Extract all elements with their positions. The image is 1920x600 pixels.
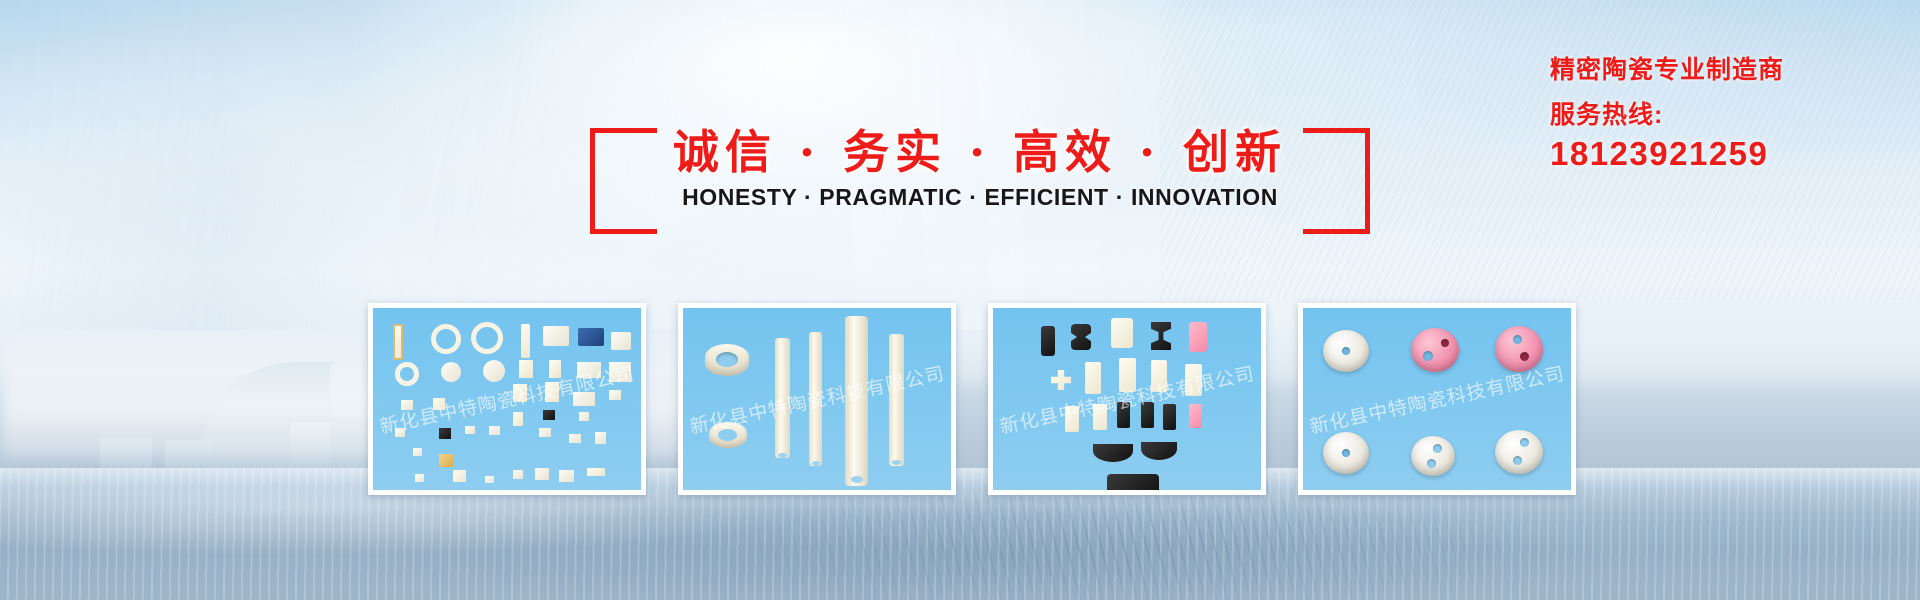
disc-upper-hole [1520, 438, 1529, 447]
ceramic-block-white [1151, 360, 1167, 392]
product-panel-ceramic-discs-and-nozzles[interactable]: 新化县中特陶瓷科技有限公司 [1298, 303, 1576, 495]
ceramic-block-pink [1189, 404, 1202, 428]
nozzle-bore [1513, 335, 1522, 344]
ceramic-tube-thick-bore [851, 476, 863, 483]
panel-image: 新化县中特陶瓷科技有限公司 [683, 308, 951, 490]
ceramic-tube [775, 338, 790, 458]
chip-substrate [611, 332, 631, 350]
chip-part [545, 382, 559, 402]
ceramic-tube-bore [778, 453, 787, 458]
disc-lower-hole [1427, 459, 1436, 468]
panel-image: 新化县中特陶瓷科技有限公司 [993, 308, 1261, 490]
ceramic-tube-bore [892, 460, 901, 465]
chip-part [415, 474, 424, 482]
chip-substrate [577, 362, 601, 378]
ceramic-nozzle-pink [1495, 326, 1543, 372]
chip-part [485, 476, 494, 483]
ceramic-bobbin-white [1111, 318, 1133, 348]
ceramic-block-pink [1189, 322, 1207, 352]
chip-part [535, 468, 549, 480]
chip-ring [395, 362, 419, 386]
chip-part [543, 410, 555, 420]
hotline-label: 服务热线: [1550, 100, 1880, 130]
chip-ring [431, 324, 461, 354]
ceramic-disc-pink [1411, 328, 1459, 372]
chip-part [539, 428, 551, 437]
product-panel-ceramic-tubes-and-rings[interactable]: 新化县中特陶瓷科技有限公司 [678, 303, 956, 495]
disc-center-hole [1423, 351, 1433, 361]
chip-part [519, 360, 533, 378]
chip-part [465, 426, 475, 434]
chip-part [453, 470, 466, 482]
ceramic-h-block [1151, 322, 1171, 350]
chip-part [569, 434, 581, 443]
ceramic-disc-white-flat [1411, 436, 1455, 476]
ceramic-block-white [1093, 404, 1107, 430]
chip-part [513, 384, 527, 402]
product-gallery: 新化县中特陶瓷科技有限公司 新化县中特陶瓷科技有限公司 [368, 303, 1586, 495]
ceramic-tube [809, 332, 822, 466]
ceramic-block-black [1141, 402, 1154, 428]
ceramic-ring-large-bore [716, 352, 738, 367]
chip-part [521, 324, 530, 358]
chip-part [433, 398, 445, 410]
ceramic-arc [1093, 444, 1133, 462]
ceramic-block-black [1163, 404, 1176, 430]
ceramic-block-black [1117, 402, 1130, 428]
chip-part [579, 412, 589, 421]
hotline-number[interactable]: 18123921259 [1550, 135, 1880, 173]
panel-image: 新化县中特陶瓷科技有限公司 [373, 308, 641, 490]
ceramic-bobbin-black [1071, 324, 1091, 350]
chip-substrate [573, 392, 595, 406]
product-panel-ceramic-blocks-and-arcs[interactable]: 新化县中特陶瓷科技有限公司 [988, 303, 1266, 495]
chip-part [513, 412, 523, 426]
disc-side-hole [1441, 339, 1449, 347]
disc-lower-hole [1513, 456, 1522, 465]
promotional-banner: 诚信 · 务实 · 高效 · 创新 HONESTY · PRAGMATIC · … [0, 0, 1920, 600]
chip-ring [471, 322, 503, 354]
chip-part [587, 468, 605, 476]
chip-part [439, 428, 451, 439]
ceramic-disc-white [1323, 432, 1369, 474]
ceramic-tube-bore [812, 461, 820, 466]
chip-part [441, 362, 461, 382]
disc-upper-hole [1433, 444, 1442, 453]
panel-image: 新化县中特陶瓷科技有限公司 [1303, 308, 1571, 490]
ceramic-block-white [1119, 358, 1136, 392]
ceramic-tube [889, 334, 904, 466]
ceramic-disc-white [1323, 330, 1369, 372]
chip-part [549, 360, 561, 378]
chip-substrate [609, 362, 631, 382]
ceramic-ring-small-bore [718, 429, 737, 441]
chip-part [513, 470, 523, 479]
ceramic-block-white [1185, 364, 1202, 396]
ceramic-disc-white-contoured [1495, 430, 1543, 474]
contact-block: 精密陶瓷专业制造商 服务热线: 18123921259 [1550, 55, 1880, 173]
ceramic-cross [1051, 370, 1071, 390]
product-panel-smd-chip-components[interactable]: 新化县中特陶瓷科技有限公司 [368, 303, 646, 495]
chip-part [483, 360, 505, 382]
disc-center-hole [1342, 347, 1350, 355]
chip-part [439, 454, 453, 467]
chip-part [393, 324, 403, 360]
chip-part [413, 448, 422, 456]
chip-substrate [543, 326, 569, 346]
ceramic-tube-thick [845, 316, 868, 486]
chip-module [578, 328, 604, 346]
ceramic-arc-large [1107, 474, 1159, 490]
slogan-english: HONESTY · PRAGMATIC · EFFICIENT · INNOVA… [590, 184, 1370, 211]
chip-substrate [609, 390, 621, 400]
chip-part [489, 426, 500, 435]
chip-part [395, 428, 405, 437]
chip-part [401, 400, 413, 410]
ceramic-block-white [1085, 362, 1101, 394]
nozzle-side-hole [1520, 352, 1529, 361]
company-tagline: 精密陶瓷专业制造商 [1550, 55, 1880, 86]
ceramic-arc [1141, 442, 1177, 460]
slogan-block: 诚信 · 务实 · 高效 · 创新 HONESTY · PRAGMATIC · … [590, 128, 1370, 238]
disc-center-hole [1342, 449, 1350, 457]
ceramic-block-white [1065, 406, 1079, 432]
chip-part [595, 432, 606, 444]
ceramic-block-black [1041, 326, 1055, 356]
slogan-chinese: 诚信 · 务实 · 高效 · 创新 [590, 116, 1370, 182]
chip-part [559, 470, 574, 482]
